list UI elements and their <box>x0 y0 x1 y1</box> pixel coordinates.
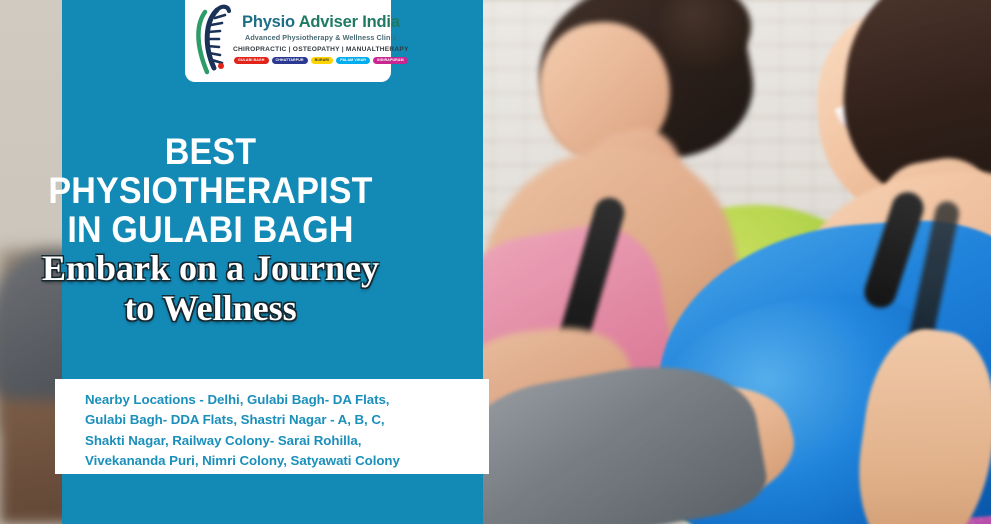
page-subtitle: Embark on a Journey to Wellness <box>0 248 421 329</box>
headline-line-1: BEST PHYSIOTHERAPIST <box>48 131 372 211</box>
location-line: Shakti Nagar, Railway Colony- Sarai Rohi… <box>85 431 489 451</box>
logo-tagline: Advanced Physiotherapy & Wellness Clinic <box>233 33 409 42</box>
spine-vertebrae-icon <box>191 2 233 76</box>
location-line: Gulabi Bagh- DDA Flats, Shastri Nagar - … <box>85 410 489 430</box>
branch-badge: PALAM VIHAR <box>336 57 370 65</box>
location-line: Nearby Locations - Delhi, Gulabi Bagh- D… <box>85 390 489 410</box>
logo-title-part1: Physio <box>242 13 295 31</box>
nearby-locations-band: Nearby Locations - Delhi, Gulabi Bagh- D… <box>55 379 489 474</box>
logo-text-block: Physio Adviser India Advanced Physiother… <box>233 2 409 64</box>
logo-services-line: CHIROPRACTIC | OSTEOPATHY | MANUALTHERAP… <box>233 46 409 53</box>
logo-branch-badges: GULABI BAGHCHHATTARPURBURARIPALAM VIHARI… <box>233 57 409 65</box>
subtitle-line-1: Embark on a Journey <box>42 248 379 288</box>
page-title: BEST PHYSIOTHERAPIST IN GULABI BAGH <box>17 132 404 250</box>
subtitle-line-2: to Wellness <box>0 288 421 328</box>
branch-badge: INDIRAPURAM <box>373 57 408 65</box>
location-line: Vivekananda Puri, Nimri Colony, Satyawat… <box>85 451 489 471</box>
physiotherapy-promo-banner: Physio Adviser India Advanced Physiother… <box>0 0 991 524</box>
branch-badge: CHHATTARPUR <box>272 57 308 65</box>
clinic-logo-card: Physio Adviser India Advanced Physiother… <box>185 0 391 82</box>
headline-line-2: IN GULABI BAGH <box>17 210 404 249</box>
logo-title-part2: Adviser India <box>295 13 400 31</box>
logo-title: Physio Adviser India <box>233 14 409 31</box>
branch-badge: BURARI <box>311 57 334 65</box>
branch-badge: GULABI BAGH <box>234 57 268 65</box>
